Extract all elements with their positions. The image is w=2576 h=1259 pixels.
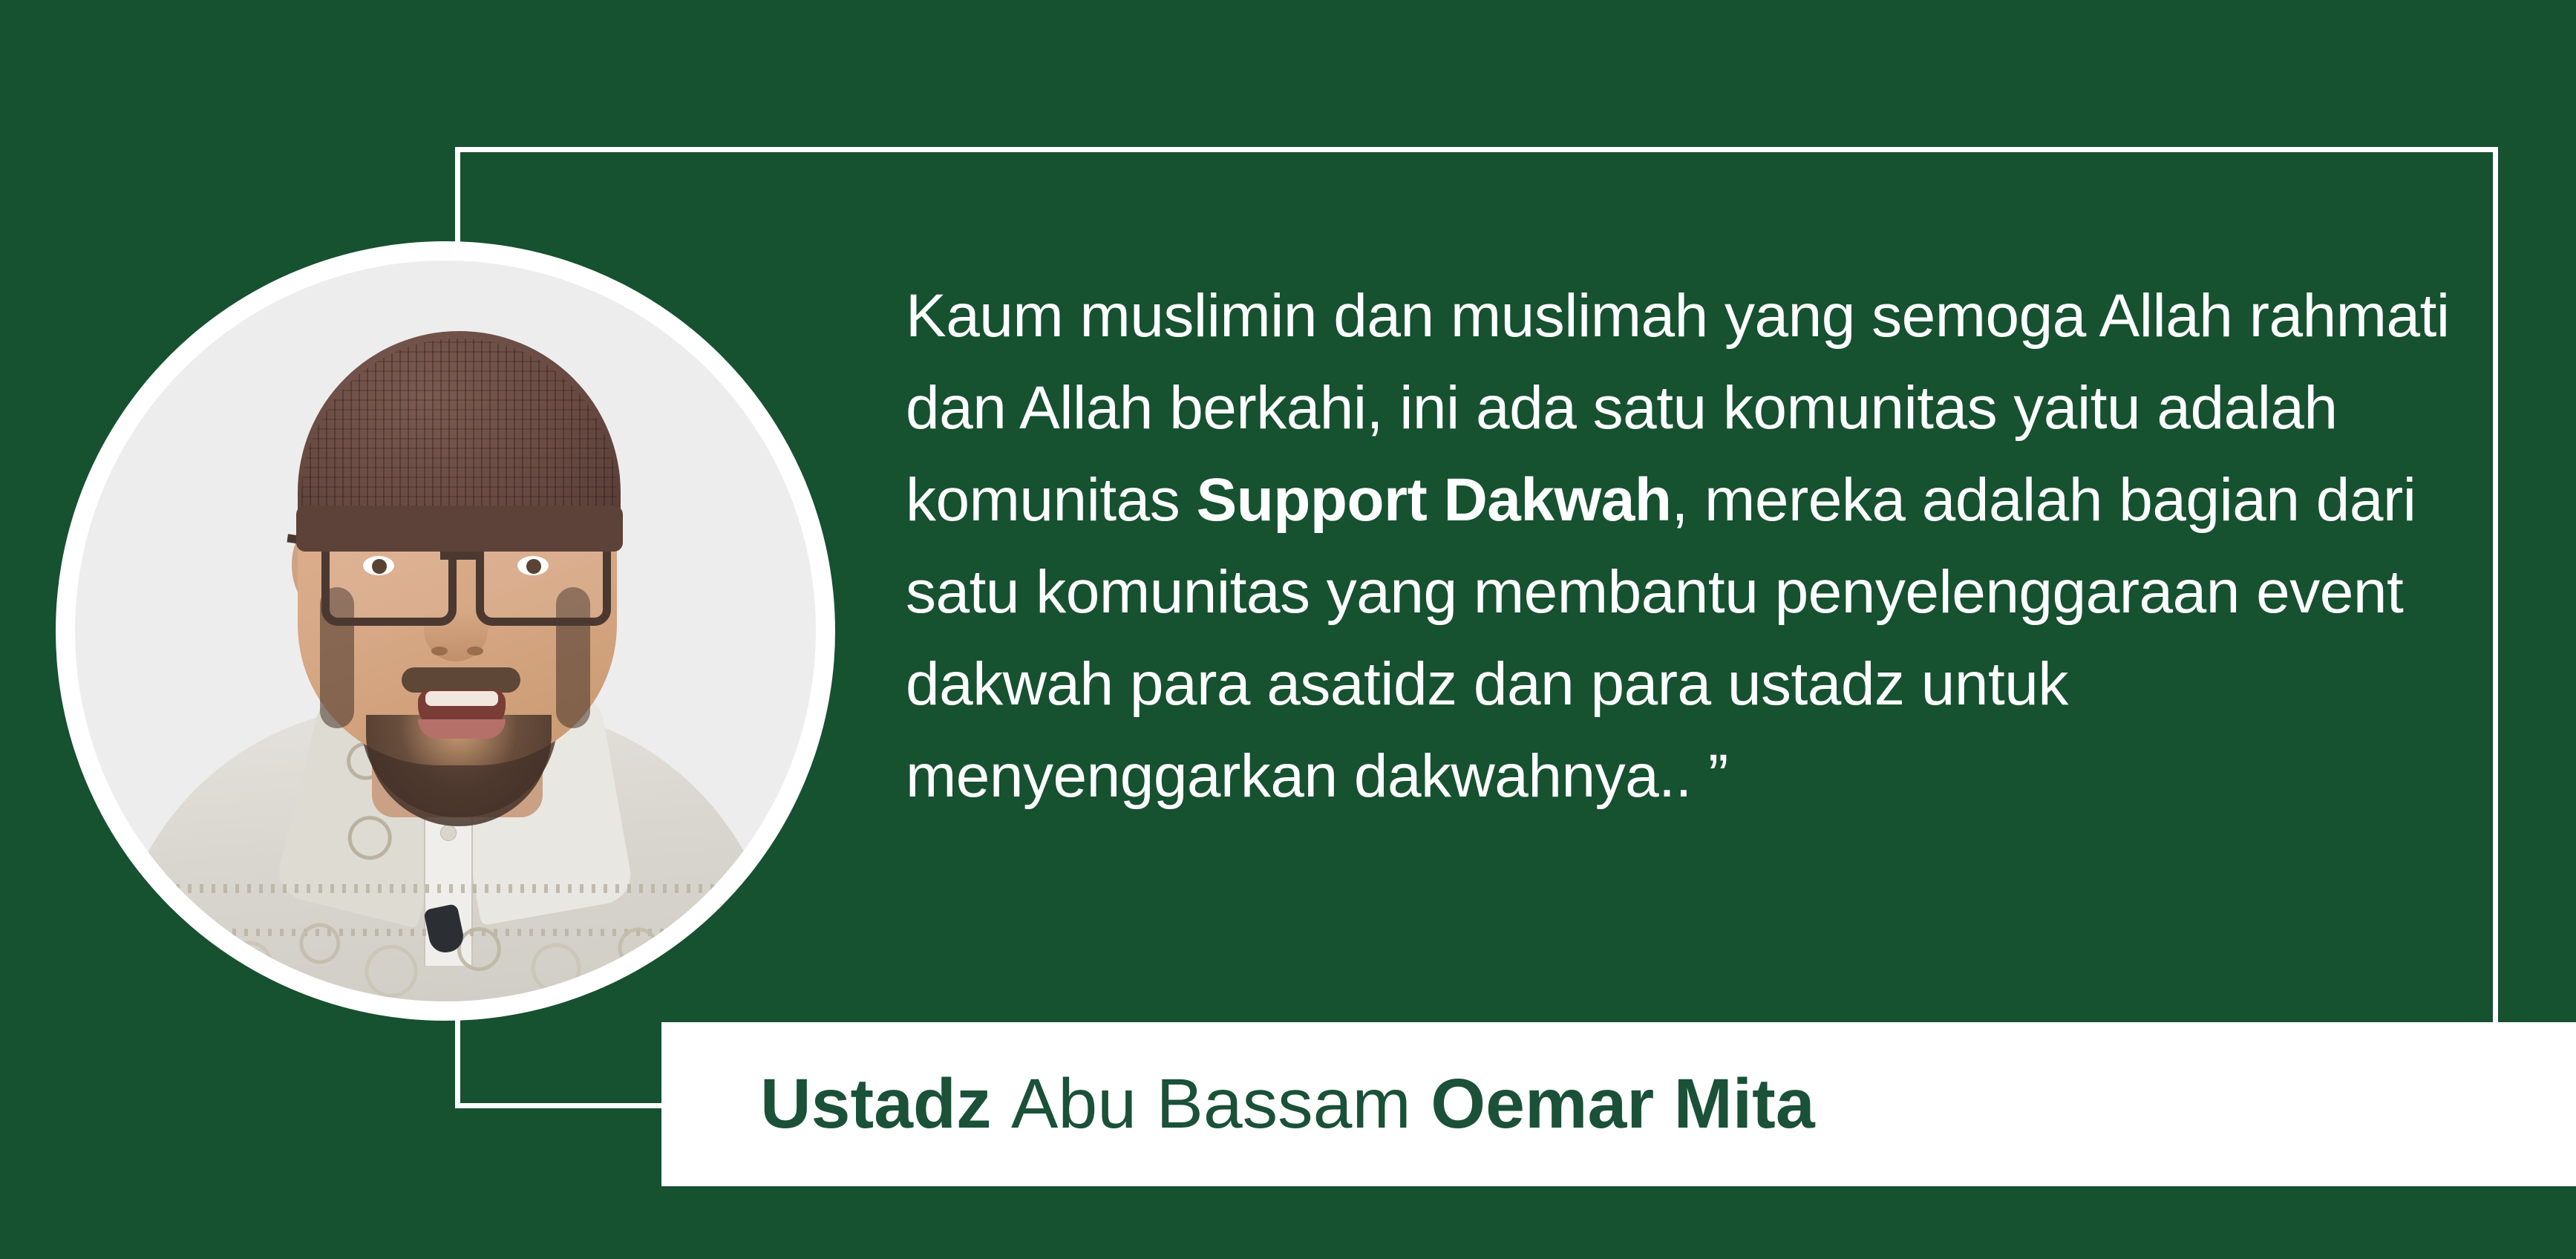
avatar bbox=[56, 241, 835, 1021]
eyeglass-bridge bbox=[440, 552, 476, 560]
quote-emphasis: Support Dakwah bbox=[1197, 466, 1672, 534]
kufi-cap-brim bbox=[296, 506, 623, 552]
speaker-title: Ustadz bbox=[760, 1065, 991, 1143]
portrait-photo bbox=[75, 261, 816, 1001]
quote-close-mark: ” bbox=[1708, 742, 1728, 810]
teeth bbox=[425, 691, 498, 706]
kufi-cap-knit-texture bbox=[301, 339, 617, 517]
moustache bbox=[402, 667, 520, 693]
nostril-left bbox=[431, 647, 448, 655]
quote-text: Kaum muslimin dan muslimah yang semoga A… bbox=[906, 270, 2494, 823]
quote-card-canvas: { "theme": { "background_green": "#16513… bbox=[0, 0, 2576, 1259]
attribution-bar: UstadzAbu BassamOemar Mita bbox=[661, 1022, 2576, 1186]
nostril-right bbox=[467, 647, 483, 655]
shirt-button bbox=[440, 825, 457, 841]
embroidery-band-upper bbox=[164, 884, 728, 893]
speaker-surname: Oemar Mita bbox=[1431, 1065, 1814, 1143]
speaker-name: UstadzAbu BassamOemar Mita bbox=[760, 1069, 1815, 1139]
lower-lip bbox=[418, 719, 506, 739]
speaker-given-names: Abu Bassam bbox=[1011, 1065, 1411, 1143]
